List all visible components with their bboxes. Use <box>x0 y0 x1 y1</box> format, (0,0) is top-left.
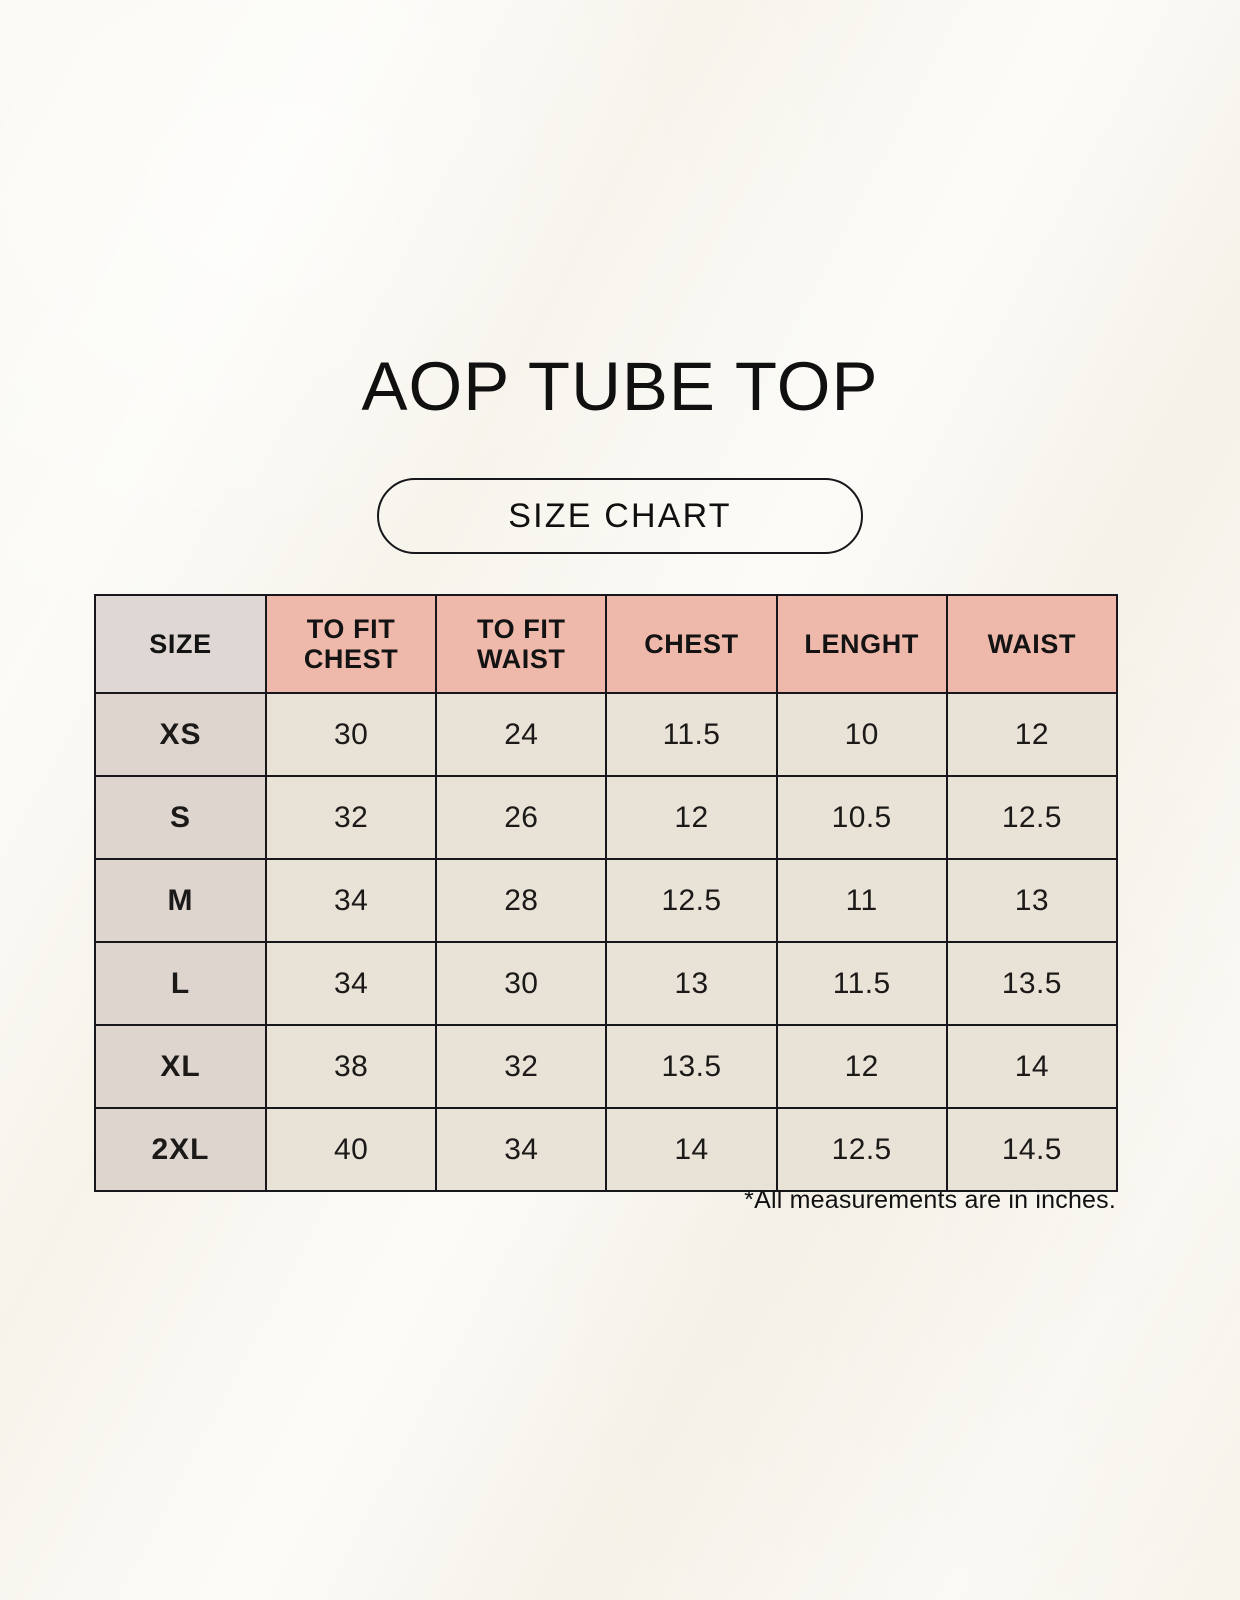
column-header-size: SIZE <box>95 595 266 693</box>
cell-length: 11.5 <box>777 942 947 1025</box>
size-chart-page: AOP TUBE TOP SIZE CHART SIZE TO FIT <box>0 0 1240 1600</box>
table-row: 2XL 40 34 14 12.5 14.5 <box>95 1108 1117 1191</box>
cell-length: 12 <box>777 1025 947 1108</box>
column-header-chest-line1: CHEST <box>644 629 739 659</box>
cell-waist: 14 <box>947 1025 1117 1108</box>
cell-size: M <box>95 859 266 942</box>
size-table-body: XS 30 24 11.5 10 12 S 32 26 12 10.5 12.5… <box>95 693 1117 1191</box>
column-header-to-fit-chest-line1: TO FIT <box>307 614 396 644</box>
cell-chest: 13 <box>606 942 776 1025</box>
cell-size: XL <box>95 1025 266 1108</box>
cell-waist: 12.5 <box>947 776 1117 859</box>
table-row: XS 30 24 11.5 10 12 <box>95 693 1117 776</box>
cell-chest: 12.5 <box>606 859 776 942</box>
column-header-length-line1: LENGHT <box>804 629 919 659</box>
column-header-waist-line1: WAIST <box>988 629 1077 659</box>
cell-to-fit-waist: 26 <box>436 776 606 859</box>
cell-to-fit-waist: 28 <box>436 859 606 942</box>
cell-length: 12.5 <box>777 1108 947 1191</box>
cell-size: XS <box>95 693 266 776</box>
cell-chest: 11.5 <box>606 693 776 776</box>
table-row: XL 38 32 13.5 12 14 <box>95 1025 1117 1108</box>
cell-to-fit-chest: 38 <box>266 1025 436 1108</box>
cell-length: 10.5 <box>777 776 947 859</box>
page-title: AOP TUBE TOP <box>0 352 1240 421</box>
measurement-units-note: *All measurements are in inches. <box>94 1186 1116 1215</box>
cell-length: 10 <box>777 693 947 776</box>
cell-size: 2XL <box>95 1108 266 1191</box>
size-table-container: SIZE TO FIT CHEST TO FIT WAIST CHEST LEN <box>94 594 1116 1192</box>
column-header-length: LENGHT <box>777 595 947 693</box>
table-row: L 34 30 13 11.5 13.5 <box>95 942 1117 1025</box>
cell-waist: 12 <box>947 693 1117 776</box>
size-chart-badge-label: SIZE CHART <box>508 497 732 536</box>
size-chart-badge: SIZE CHART <box>377 478 863 554</box>
cell-to-fit-chest: 30 <box>266 693 436 776</box>
cell-to-fit-waist: 30 <box>436 942 606 1025</box>
table-header-row: SIZE TO FIT CHEST TO FIT WAIST CHEST LEN <box>95 595 1117 693</box>
column-header-to-fit-chest-line2: CHEST <box>267 644 435 674</box>
cell-to-fit-chest: 34 <box>266 859 436 942</box>
size-table: SIZE TO FIT CHEST TO FIT WAIST CHEST LEN <box>94 594 1118 1192</box>
cell-to-fit-chest: 32 <box>266 776 436 859</box>
column-header-to-fit-chest: TO FIT CHEST <box>266 595 436 693</box>
column-header-size-line1: SIZE <box>149 629 211 659</box>
cell-waist: 13.5 <box>947 942 1117 1025</box>
cell-chest: 14 <box>606 1108 776 1191</box>
cell-waist: 13 <box>947 859 1117 942</box>
cell-to-fit-chest: 34 <box>266 942 436 1025</box>
cell-to-fit-waist: 32 <box>436 1025 606 1108</box>
column-header-waist: WAIST <box>947 595 1117 693</box>
cell-waist: 14.5 <box>947 1108 1117 1191</box>
cell-size: S <box>95 776 266 859</box>
cell-chest: 13.5 <box>606 1025 776 1108</box>
cell-to-fit-waist: 34 <box>436 1108 606 1191</box>
cell-size: L <box>95 942 266 1025</box>
column-header-to-fit-waist-line2: WAIST <box>437 644 605 674</box>
cell-length: 11 <box>777 859 947 942</box>
cell-to-fit-waist: 24 <box>436 693 606 776</box>
column-header-chest: CHEST <box>606 595 776 693</box>
column-header-to-fit-waist: TO FIT WAIST <box>436 595 606 693</box>
size-table-head: SIZE TO FIT CHEST TO FIT WAIST CHEST LEN <box>95 595 1117 693</box>
column-header-to-fit-waist-line1: TO FIT <box>477 614 566 644</box>
cell-to-fit-chest: 40 <box>266 1108 436 1191</box>
cell-chest: 12 <box>606 776 776 859</box>
table-row: M 34 28 12.5 11 13 <box>95 859 1117 942</box>
table-row: S 32 26 12 10.5 12.5 <box>95 776 1117 859</box>
